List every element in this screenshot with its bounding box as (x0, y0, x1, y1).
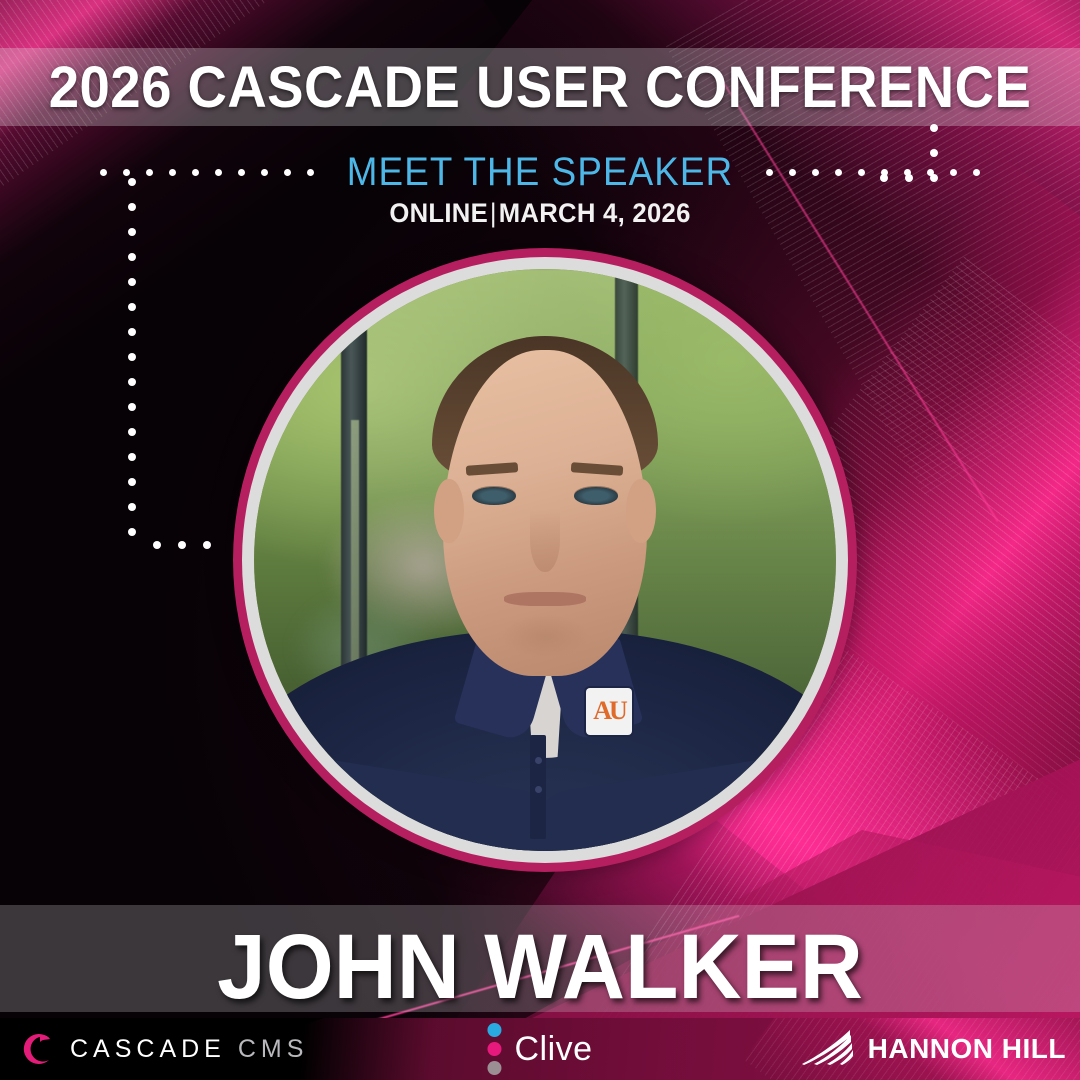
cascade-swoosh-icon (18, 1029, 58, 1069)
event-dateline: ONLINE|MARCH 4, 2026 (27, 198, 1053, 229)
cascade-cms-wordmark: CASCADE CMS (70, 1035, 308, 1064)
hannon-hill-wordmark: HANNON HILL (868, 1033, 1066, 1065)
photo-chin-shadow (487, 607, 603, 665)
speaker-portrait-ring: AU (233, 248, 857, 872)
speaker-announcement-poster: 2026 CASCADE USER CONFERENCE MEET THE SP… (0, 0, 1080, 1080)
photo-button-2 (535, 786, 542, 793)
cascade-word: CASCADE (70, 1035, 226, 1063)
speaker-portrait-inner-ring: AU (242, 257, 848, 863)
hannon-hill-swoosh-icon (800, 1027, 858, 1072)
clive-dots-icon (487, 1023, 501, 1075)
dot-leader-right (766, 169, 980, 176)
photo-eye-left (472, 487, 516, 504)
dateline-separator: | (488, 198, 499, 228)
photo-mouth (504, 592, 585, 606)
hannon-hill-logo[interactable]: HANNON HILL (800, 1027, 1066, 1072)
speaker-name: JOHN WALKER (27, 915, 1053, 1020)
speaker-photo: AU (254, 269, 836, 851)
subtitle-row: MEET THE SPEAKER (0, 150, 1080, 195)
clive-wordmark: Clive (514, 1030, 592, 1069)
event-location: ONLINE (389, 198, 488, 228)
photo-button-1 (535, 757, 542, 764)
event-date: MARCH 4, 2026 (499, 198, 691, 228)
dot-leader-left (100, 169, 314, 176)
footer-bar: CASCADE CMS Clive (0, 1018, 1080, 1080)
photo-nose (530, 508, 559, 572)
photo-ear-left (434, 479, 463, 543)
cms-word: CMS (238, 1035, 309, 1063)
footer-content: CASCADE CMS Clive (0, 1018, 1080, 1080)
subtitle-text: MEET THE SPEAKER (347, 150, 733, 195)
photo-eye-right (574, 487, 618, 504)
cascade-cms-logo[interactable]: CASCADE CMS (18, 1029, 308, 1069)
page-title: 2026 CASCADE USER CONFERENCE (32, 54, 1047, 121)
clive-logo[interactable]: Clive (487, 1023, 592, 1075)
photo-ear-right (626, 479, 655, 543)
au-shirt-logo: AU (586, 688, 633, 735)
